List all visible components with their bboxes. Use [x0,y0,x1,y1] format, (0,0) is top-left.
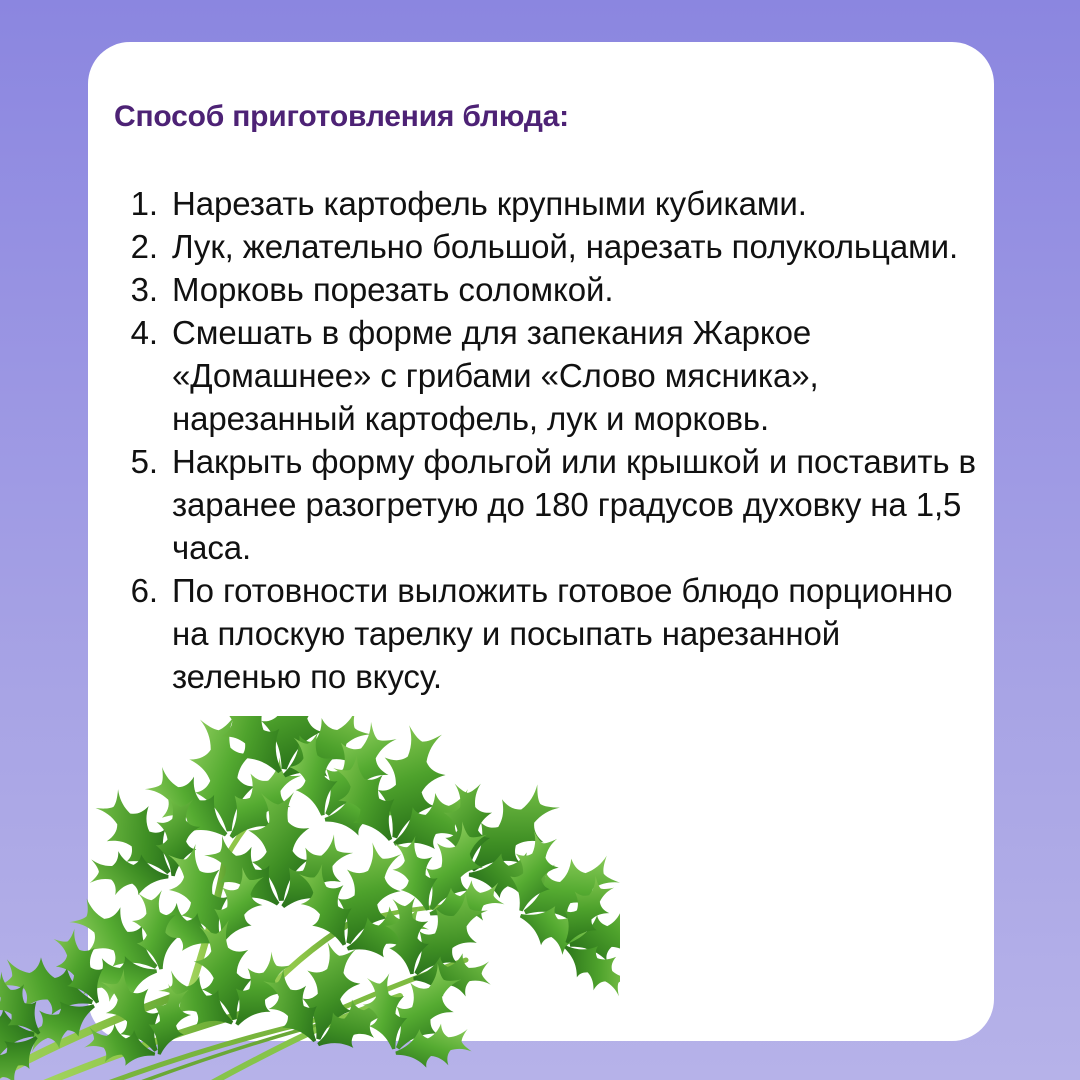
list-item-text: Морковь порезать соломкой. [172,268,976,311]
list-item-text: Лук, желательно большой, нарезать полуко… [172,225,976,268]
recipe-card: Способ приготовления блюда: 1. Нарезать … [88,42,994,1041]
list-item-number: 6. [110,569,158,612]
list-item: 3. Морковь порезать соломкой. [110,268,976,311]
list-item-number: 5. [110,440,158,483]
instruction-steps-list: 1. Нарезать картофель крупными кубиками.… [110,182,976,698]
list-item: 2. Лук, желательно большой, нарезать пол… [110,225,976,268]
list-item-number: 1. [110,182,158,225]
list-item: 6. По готовности выложить готовое блюдо … [110,569,976,698]
list-item-text: Накрыть форму фольгой или крышкой и пост… [172,440,976,569]
list-item: 1. Нарезать картофель крупными кубиками. [110,182,976,225]
list-item-number: 3. [110,268,158,311]
list-item-text: Смешать в форме для запекания Жаркое «До… [172,311,976,440]
list-item-text: Нарезать картофель крупными кубиками. [172,182,976,225]
poster-canvas: Способ приготовления блюда: 1. Нарезать … [0,0,1080,1080]
list-item: 4. Смешать в форме для запекания Жаркое … [110,311,976,440]
page-title: Способ приготовления блюда: [114,100,569,134]
list-item-number: 2. [110,225,158,268]
list-item-text: По готовности выложить готовое блюдо пор… [172,569,976,698]
list-item: 5. Накрыть форму фольгой или крышкой и п… [110,440,976,569]
list-item-number: 4. [110,311,158,354]
